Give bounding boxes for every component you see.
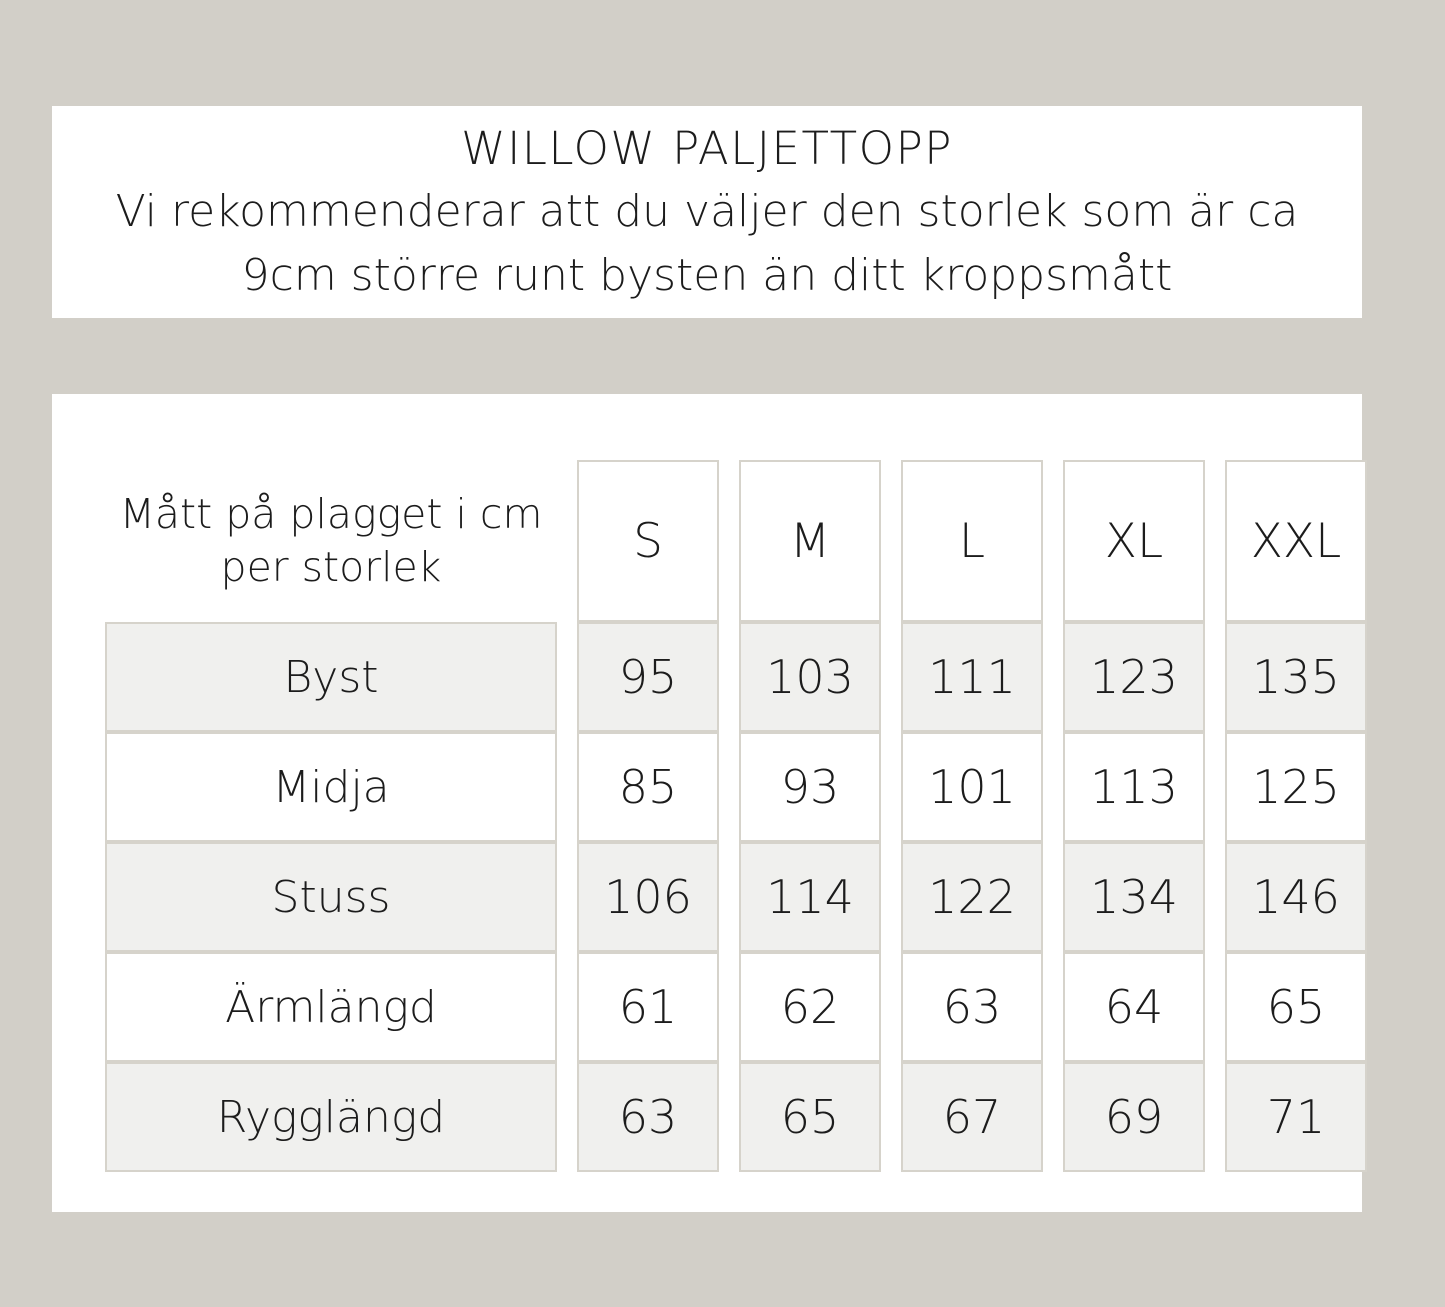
table-row: Byst 95 103 111 123 135: [105, 622, 1367, 732]
measurement-armlangd-xxl: 65: [1225, 952, 1367, 1062]
measurement-label-stuss: Stuss: [105, 842, 557, 952]
measurement-byst-xxl: 135: [1225, 622, 1367, 732]
measurement-label-byst: Byst: [105, 622, 557, 732]
table-header-row: Mått på plagget i cm per storlek S M L X…: [105, 460, 1367, 622]
measurement-armlangd-l: 63: [901, 952, 1043, 1062]
measurement-rygglangd-xl: 69: [1063, 1062, 1205, 1172]
measurement-armlangd-m: 62: [739, 952, 881, 1062]
size-header-xxl: XXL: [1225, 460, 1367, 622]
table-row: Stuss 106 114 122 134 146: [105, 842, 1367, 952]
measurement-label-rygglangd: Rygglängd: [105, 1062, 557, 1172]
size-header-xl: XL: [1063, 460, 1205, 622]
measurement-midja-s: 85: [577, 732, 719, 842]
measurement-stuss-m: 114: [739, 842, 881, 952]
sizing-recommendation-text: Vi rekommenderar att du väljer den storl…: [87, 180, 1327, 308]
measurement-byst-l: 111: [901, 622, 1043, 732]
size-header-l: L: [901, 460, 1043, 622]
header-panel: WILLOW PALJETTOPP Vi rekommenderar att d…: [52, 106, 1362, 318]
measurement-rygglangd-xxl: 71: [1225, 1062, 1367, 1172]
measurement-stuss-xl: 134: [1063, 842, 1205, 952]
measurement-byst-s: 95: [577, 622, 719, 732]
table-row: Rygglängd 63 65 67 69 71: [105, 1062, 1367, 1172]
page-title: WILLOW PALJETTOPP: [461, 124, 953, 174]
measurement-stuss-xxl: 146: [1225, 842, 1367, 952]
table-row: Midja 85 93 101 113 125: [105, 732, 1367, 842]
measurement-label-midja: Midja: [105, 732, 557, 842]
measurement-stuss-s: 106: [577, 842, 719, 952]
measurement-unit-header: Mått på plagget i cm per storlek: [105, 460, 557, 622]
measurement-midja-m: 93: [739, 732, 881, 842]
measurement-byst-xl: 123: [1063, 622, 1205, 732]
measurement-label-armlangd: Ärmlängd: [105, 952, 557, 1062]
size-header-m: M: [739, 460, 881, 622]
measurement-midja-xxl: 125: [1225, 732, 1367, 842]
measurement-midja-l: 101: [901, 732, 1043, 842]
measurement-armlangd-xl: 64: [1063, 952, 1205, 1062]
size-measurement-table: Mått på plagget i cm per storlek S M L X…: [85, 460, 1387, 1172]
size-header-s: S: [577, 460, 719, 622]
table-row: Ärmlängd 61 62 63 64 65: [105, 952, 1367, 1062]
measurement-stuss-l: 122: [901, 842, 1043, 952]
size-chart-page: WILLOW PALJETTOPP Vi rekommenderar att d…: [0, 0, 1445, 1307]
measurement-rygglangd-s: 63: [577, 1062, 719, 1172]
measurement-table-panel: Mått på plagget i cm per storlek S M L X…: [52, 394, 1362, 1212]
measurement-rygglangd-l: 67: [901, 1062, 1043, 1172]
measurement-rygglangd-m: 65: [739, 1062, 881, 1172]
measurement-midja-xl: 113: [1063, 732, 1205, 842]
measurement-byst-m: 103: [739, 622, 881, 732]
measurement-armlangd-s: 61: [577, 952, 719, 1062]
